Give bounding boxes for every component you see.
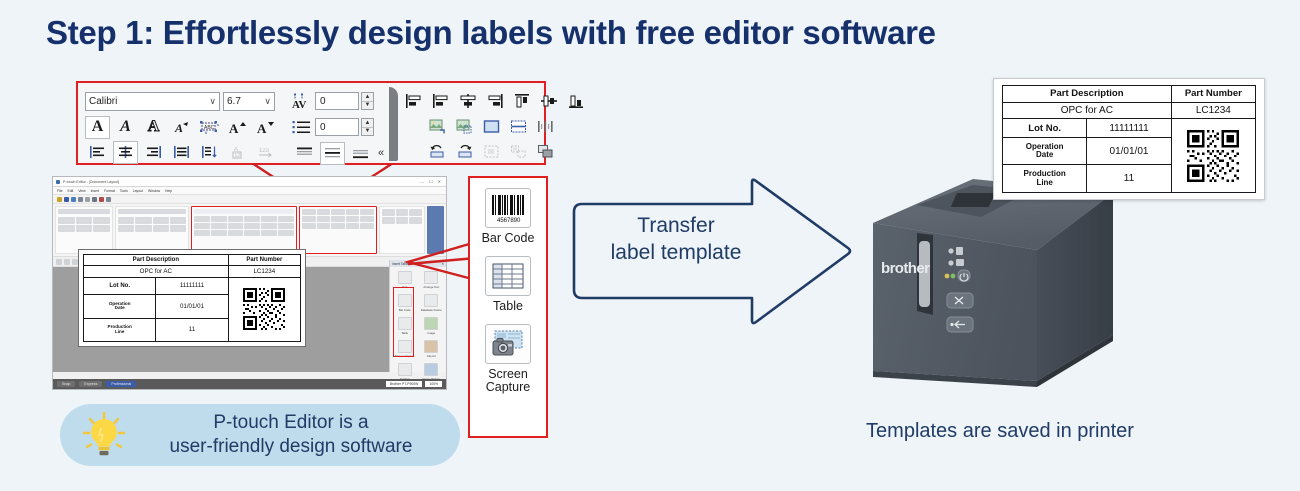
bold-button[interactable]: A <box>85 116 110 139</box>
barcode-digits: 4567890 <box>497 218 521 224</box>
menu-item[interactable]: Edit <box>67 189 73 193</box>
number-direction-button[interactable]: 123 <box>253 141 278 164</box>
table-row: Part Description Part Number <box>1003 86 1256 103</box>
group-icon[interactable] <box>479 140 504 163</box>
frame-picture-icon <box>424 363 438 376</box>
menu-item[interactable]: Format <box>104 189 115 193</box>
collapse-chevron-icon[interactable]: « <box>378 148 384 159</box>
menu-item[interactable]: View <box>78 189 85 193</box>
editor-label-preview[interactable]: Part Description Part Number OPC for AC … <box>78 249 306 347</box>
qr-code-cell <box>1171 119 1255 193</box>
printed-label: Part Description Part Number OPC for AC … <box>993 78 1265 200</box>
text-effects-button[interactable]: A <box>169 116 194 139</box>
tool-panel-callout: 4567890 Bar Code Table <box>468 176 548 438</box>
valign-bottom-button[interactable] <box>348 142 373 165</box>
menu-item[interactable]: Insert <box>91 189 99 193</box>
italic-a-icon: A <box>120 119 131 135</box>
cut-icon[interactable] <box>99 197 104 202</box>
cell-production-line-value: 11 <box>1087 165 1171 193</box>
character-spacing-icon: AV <box>292 93 312 109</box>
text-tool-icon[interactable] <box>64 259 70 265</box>
brother-logo: brother <box>881 260 930 277</box>
status-tab-professional[interactable]: Professional <box>106 381 136 387</box>
cell-part-number-value: LC1234 <box>1171 102 1255 119</box>
svg-text:A: A <box>257 121 267 135</box>
printer-caption: Templates are saved in printer <box>855 420 1145 443</box>
redo-icon[interactable] <box>92 197 97 202</box>
align-center-button[interactable] <box>113 141 138 164</box>
align-justify-icon <box>173 145 190 159</box>
table-row: OPC for AC LC1234 <box>84 265 301 277</box>
text-effects-icon: A <box>174 120 190 135</box>
page-title: Step 1: Effortlessly design labels with … <box>46 14 936 52</box>
tip-text: P-touch Editor is a user-friendly design… <box>140 411 442 459</box>
ribbon-arrange-card-highlighted <box>299 206 377 254</box>
row-label-lot-no: Lot No. <box>1003 119 1087 138</box>
line-spacing-stepper[interactable]: ▲ ▼ <box>361 118 374 136</box>
valign-top-button[interactable] <box>292 142 317 165</box>
table-icon <box>398 317 412 330</box>
screen-capture-icon <box>398 340 412 353</box>
editor-window-screenshot: P-touch Editor - [Document Layout] — ☐ ✕… <box>52 176 447 390</box>
vertical-text-button[interactable]: A 12 <box>225 141 250 164</box>
valign-middle-icon <box>324 146 342 160</box>
menu-item[interactable]: Layout <box>133 189 143 193</box>
printed-label-table: Part Description Part Number OPC for AC … <box>1002 85 1256 193</box>
menu-item[interactable]: File <box>57 189 62 193</box>
cell-production-line-value: 11 <box>156 318 228 341</box>
editor-quick-toolbar <box>53 195 446 204</box>
printer-select[interactable]: Brother PT-P900W <box>386 381 422 387</box>
symbol-icon <box>398 363 412 376</box>
editor-menu-bar: File Edit View Insert Format Tools Layou… <box>53 187 446 195</box>
align-left-button[interactable] <box>85 141 110 164</box>
text-fit-icon: ABC <box>200 120 219 135</box>
character-spacing-value[interactable]: 0 <box>315 92 359 110</box>
order-icon[interactable] <box>533 140 558 163</box>
font-size-value: 6.7 <box>227 96 241 107</box>
cell-lot-no-value: 11111111 <box>156 277 228 295</box>
character-spacing-spinner[interactable]: 0 ▲ ▼ <box>315 92 374 110</box>
status-tab-express[interactable]: Express <box>79 381 102 387</box>
text-fit-button[interactable]: ABC <box>197 116 222 139</box>
bold-a-icon: A <box>92 119 104 135</box>
panel-connector-lines <box>404 240 478 298</box>
row-label-production-line: ProductionLine <box>84 318 156 341</box>
align-right-icon <box>145 145 162 159</box>
table-row: OPC for AC LC1234 <box>1003 102 1256 119</box>
clipart-icon <box>424 340 438 353</box>
spin-up-icon[interactable]: ▲ <box>362 93 373 102</box>
row-label-operation-date: OperationDate <box>1003 137 1087 165</box>
header-part-number: Part Number <box>1171 86 1255 103</box>
number-direction-icon: 123 <box>258 145 274 159</box>
save-icon[interactable] <box>71 197 76 202</box>
ribbon-font-card-highlighted <box>191 206 297 254</box>
spacing-group: AV 0 ▲ ▼ <box>287 85 389 161</box>
qr-code <box>243 288 285 330</box>
status-tab-snap[interactable]: Snap <box>57 381 75 387</box>
tip-callout: P-touch Editor is a user-friendly design… <box>60 404 460 466</box>
align-objects-bottom-icon[interactable] <box>563 90 588 113</box>
align-objects-center-icon[interactable] <box>455 90 480 113</box>
select-tool-icon[interactable] <box>56 259 62 265</box>
align-objects-right-icon[interactable] <box>482 90 507 113</box>
svg-text:ABC: ABC <box>204 125 215 131</box>
editor-status-bar: Snap Express Professional Brother PT-P90… <box>53 379 446 389</box>
font-size-combo[interactable]: 6.7 ∨ <box>223 92 275 111</box>
increase-font-size-button[interactable]: A <box>225 116 250 139</box>
table-row: Lot No. 11111111 <box>84 277 301 295</box>
app-icon <box>56 180 60 184</box>
barcode-icon: 4567890 <box>485 188 531 228</box>
window-controls[interactable]: — ☐ ✕ <box>420 179 443 184</box>
slide-canvas: Step 1: Effortlessly design labels with … <box>0 0 1300 491</box>
copy-icon[interactable] <box>106 197 111 202</box>
align-justify-button[interactable] <box>169 141 194 164</box>
toolbar-callout: Calibri ∨ 6.7 ∨ A A A A <box>76 81 546 165</box>
rotate-left-icon[interactable] <box>425 140 450 163</box>
undo-icon[interactable] <box>85 197 90 202</box>
decrease-font-size-icon: A <box>257 120 274 135</box>
header-part-description: Part Description <box>84 255 229 266</box>
side-panel-item[interactable]: Screen Capture <box>392 338 418 360</box>
outline-a-icon: A <box>148 119 160 135</box>
cell-lot-no-value: 11111111 <box>1087 119 1171 138</box>
split-frame-icon[interactable] <box>506 115 531 138</box>
callout-item-table[interactable]: Table <box>470 256 546 314</box>
header-part-description: Part Description <box>1003 86 1172 103</box>
align-objects-left-edge-icon[interactable] <box>428 90 453 113</box>
callout-label-screen-capture: ScreenCapture <box>486 368 530 396</box>
valign-middle-button[interactable] <box>320 142 345 165</box>
open-icon[interactable] <box>64 197 69 202</box>
row-label-operation-date: OperationDate <box>84 295 156 318</box>
table-row: Lot No. 11111111 <box>1003 119 1256 138</box>
menu-item[interactable]: Tools <box>120 189 128 193</box>
ungroup-icon[interactable] <box>506 140 531 163</box>
label-table: Part Description Part Number OPC for AC … <box>83 254 301 342</box>
image-icon <box>424 317 438 330</box>
editor-title-text: P-touch Editor - [Document Layout] <box>63 180 119 184</box>
spin-down-icon[interactable]: ▼ <box>362 128 373 136</box>
svg-text:12: 12 <box>235 153 241 159</box>
align-right-button[interactable] <box>141 141 166 164</box>
callout-label-table: Table <box>493 300 523 314</box>
side-panel-item[interactable]: Image <box>419 315 445 337</box>
header-part-number: Part Number <box>228 255 300 266</box>
line-spacing-icon <box>292 119 312 135</box>
text-direction-icon <box>201 145 218 159</box>
vertical-text-icon: A 12 <box>230 145 245 159</box>
cell-part-number-value: LC1234 <box>228 265 300 277</box>
lightbulb-icon <box>78 410 130 460</box>
align-left-icon <box>89 145 106 159</box>
image-crop-icon[interactable] <box>452 115 477 138</box>
cell-description-value: OPC for AC <box>1003 102 1172 119</box>
text-direction-button[interactable] <box>197 141 222 164</box>
spin-up-icon[interactable]: ▲ <box>362 119 373 128</box>
table-icon <box>485 256 531 296</box>
side-panel-item[interactable]: Clip Art <box>419 338 445 360</box>
valign-bottom-icon <box>352 146 370 160</box>
row-label-production-line: ProductionLine <box>1003 165 1087 193</box>
chevron-down-icon: ∨ <box>264 96 271 107</box>
image-fit-icon[interactable] <box>425 115 450 138</box>
decrease-font-size-button[interactable]: A <box>253 116 278 139</box>
line-spacing-spinner[interactable]: 0 ▲ ▼ <box>315 118 374 136</box>
qr-code <box>1187 130 1239 182</box>
new-icon[interactable] <box>57 197 62 202</box>
increase-font-size-icon: A <box>229 120 246 135</box>
callout-item-screen-capture[interactable]: ScreenCapture <box>470 324 546 396</box>
ribbon-layout-card <box>115 206 189 254</box>
row-label-lot-no: Lot No. <box>84 277 156 295</box>
italic-button[interactable]: A <box>113 116 138 139</box>
align-center-icon <box>117 145 134 159</box>
font-group: Calibri ∨ 6.7 ∨ A A A A <box>80 85 283 161</box>
ribbon-printer-card <box>55 206 113 254</box>
transfer-arrow-text: Transfer label template <box>586 212 766 267</box>
svg-text:A: A <box>174 121 183 135</box>
valign-top-icon <box>296 146 314 160</box>
cell-description-value: OPC for AC <box>84 265 229 277</box>
table-row: Part Description Part Number <box>84 255 301 266</box>
font-family-combo[interactable]: Calibri ∨ <box>85 92 220 111</box>
outline-button[interactable]: A <box>141 116 166 139</box>
spin-down-icon[interactable]: ▼ <box>362 102 373 110</box>
menu-item[interactable]: Window <box>148 189 160 193</box>
align-objects-middle-icon[interactable] <box>536 90 561 113</box>
frame-icon[interactable] <box>479 115 504 138</box>
distribute-horizontal-icon[interactable] <box>533 115 558 138</box>
svg-text:123: 123 <box>259 148 270 154</box>
callout-label-barcode: Bar Code <box>482 232 535 246</box>
line-spacing-value[interactable]: 0 <box>315 118 359 136</box>
qr-code-cell <box>228 277 300 342</box>
align-objects-top-icon[interactable] <box>509 90 534 113</box>
character-spacing-stepper[interactable]: ▲ ▼ <box>361 92 374 110</box>
font-family-value: Calibri <box>89 96 117 107</box>
arrange-group <box>389 85 593 161</box>
editor-title-bar: P-touch Editor - [Document Layout] — ☐ ✕ <box>53 177 446 187</box>
cell-operation-date-value: 01/01/01 <box>1087 137 1171 165</box>
menu-item[interactable]: Help <box>165 189 172 193</box>
rotate-right-icon[interactable] <box>452 140 477 163</box>
svg-text:A: A <box>229 121 239 135</box>
printer-illustration: brother <box>855 175 1125 410</box>
zoom-value[interactable]: 100% <box>425 381 442 387</box>
print-icon[interactable] <box>78 197 83 202</box>
callout-item-barcode[interactable]: 4567890 Bar Code <box>470 188 546 246</box>
side-panel-item[interactable]: Table <box>392 315 418 337</box>
align-objects-left-icon[interactable] <box>401 90 426 113</box>
svg-text:AV: AV <box>292 99 307 109</box>
cell-operation-date-value: 01/01/01 <box>156 295 228 318</box>
screen-capture-icon <box>485 324 531 364</box>
chevron-down-icon: ∨ <box>209 96 216 107</box>
